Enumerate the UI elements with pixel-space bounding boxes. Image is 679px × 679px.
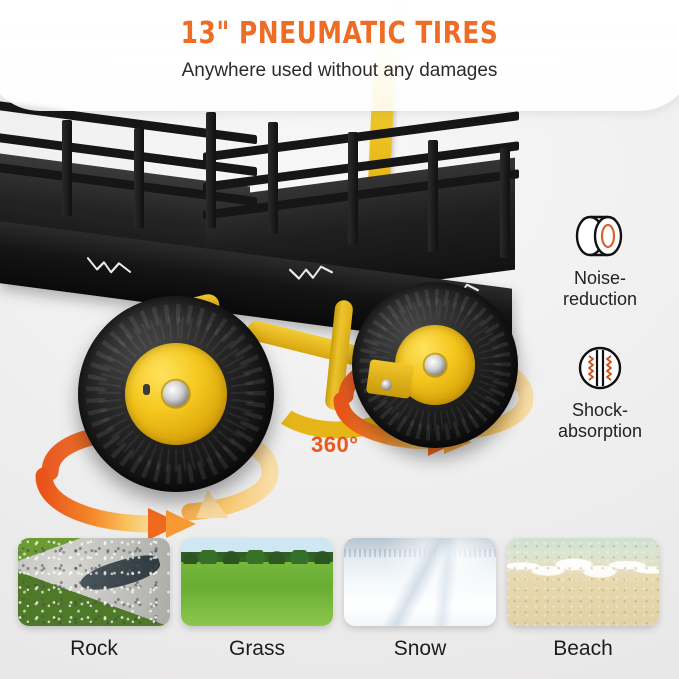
page-title: 13" PNEUMATIC TIRES	[12, 16, 666, 51]
header-banner: 13" PNEUMATIC TIRES Anywhere used withou…	[0, 0, 679, 111]
surface-caption: Grass	[181, 637, 333, 661]
product-feature-image: 360° 13" PNEUMATIC TIRES Anywhere used w…	[0, 0, 679, 679]
feature-noise-reduction: Noise- reduction	[535, 208, 665, 309]
spring-circle-icon	[535, 340, 665, 396]
cart-post	[428, 140, 438, 252]
surface-item-rock[interactable]: Rock	[18, 538, 170, 661]
surface-image-snow	[344, 538, 496, 626]
feature-label-line2: reduction	[535, 289, 665, 310]
cart-post	[134, 128, 144, 228]
rotation-degree-label: 360°	[311, 432, 359, 458]
feature-label-line1: Shock-	[535, 400, 665, 421]
surface-image-beach	[507, 538, 659, 626]
tire-cylinder-icon	[535, 208, 665, 264]
surface-image-grass	[181, 538, 333, 626]
surface-caption: Rock	[18, 637, 170, 661]
feature-label-line2: absorption	[535, 421, 665, 442]
surface-caption: Beach	[507, 637, 659, 661]
cart-post	[62, 120, 72, 216]
cart-post	[268, 122, 278, 234]
surface-item-beach[interactable]: Beach	[507, 538, 659, 661]
cart-post	[500, 148, 510, 258]
surface-item-snow[interactable]: Snow	[344, 538, 496, 661]
surface-caption: Snow	[344, 637, 496, 661]
cart-post	[348, 132, 358, 244]
feature-shock-absorption: Shock- absorption	[535, 340, 665, 441]
surface-thumbnail-strip: Rock Grass Snow Beach	[0, 538, 679, 679]
feature-label: Noise- reduction	[535, 268, 665, 309]
page-subtitle: Anywhere used without any damages	[0, 60, 679, 82]
surface-image-rock	[18, 538, 170, 626]
cart-wheel-left	[78, 296, 274, 492]
feature-label-line1: Noise-	[535, 268, 665, 289]
feature-label: Shock- absorption	[535, 400, 665, 441]
surface-item-grass[interactable]: Grass	[181, 538, 333, 661]
cart-hub-plate	[366, 359, 414, 399]
cart-post	[206, 112, 216, 228]
